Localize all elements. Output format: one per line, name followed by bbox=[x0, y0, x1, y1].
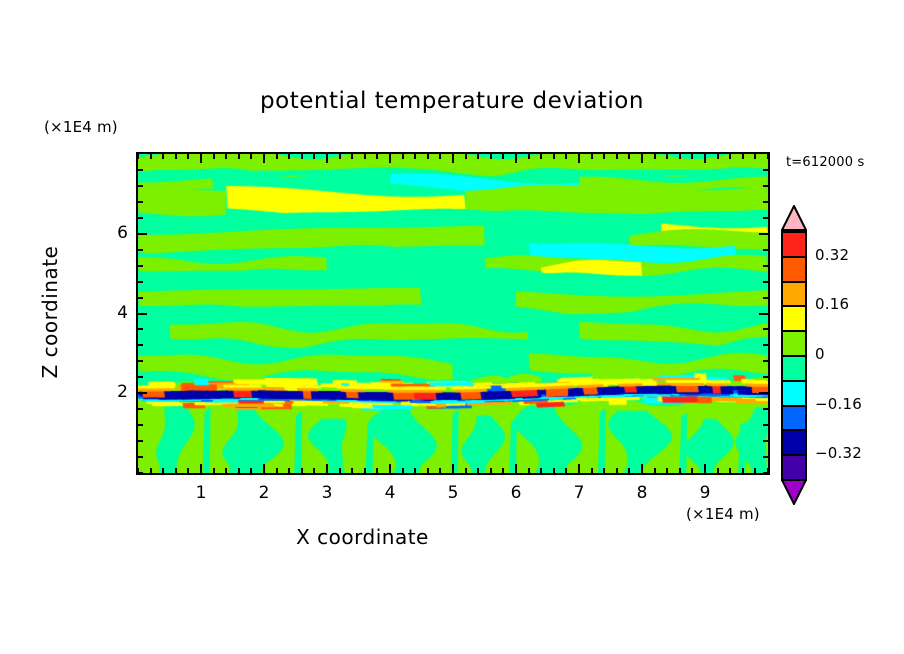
y-tick-right-minor bbox=[763, 201, 768, 203]
y-tick-minor bbox=[138, 424, 143, 426]
y-tick-minor bbox=[138, 185, 143, 187]
x-tick-top-minor bbox=[477, 154, 479, 159]
y-tick-right-minor bbox=[763, 344, 768, 346]
y-tick-right-minor bbox=[763, 360, 768, 362]
x-tick-top-major bbox=[452, 154, 454, 163]
x-tick-major bbox=[515, 464, 517, 473]
x-tick-major bbox=[200, 464, 202, 473]
x-tick-major bbox=[263, 464, 265, 473]
x-tick-top-minor bbox=[754, 154, 756, 159]
y-axis-unit-label: (×1E4 m) bbox=[44, 118, 118, 136]
x-tick-top-minor bbox=[276, 154, 278, 159]
x-tick-top-minor bbox=[175, 154, 177, 159]
y-tick-minor bbox=[138, 297, 143, 299]
x-tick-minor bbox=[591, 468, 593, 473]
x-tick-top-minor bbox=[591, 154, 593, 159]
colorbar-tick-label: −0.32 bbox=[815, 444, 862, 462]
x-axis-unit-label: (×1E4 m) bbox=[686, 505, 760, 523]
y-tick-right-minor bbox=[763, 408, 768, 410]
x-tick-minor bbox=[729, 468, 731, 473]
y-tick-right-minor bbox=[763, 440, 768, 442]
x-tick-label: 4 bbox=[370, 483, 410, 503]
x-tick-minor bbox=[465, 468, 467, 473]
x-tick-top-minor bbox=[654, 154, 656, 159]
colorbar-band bbox=[781, 256, 807, 283]
x-tick-minor bbox=[175, 468, 177, 473]
x-tick-top-minor bbox=[691, 154, 693, 159]
x-tick-top-minor bbox=[376, 154, 378, 159]
x-tick-minor bbox=[313, 468, 315, 473]
colorbar-band bbox=[781, 454, 807, 481]
x-tick-label: 7 bbox=[559, 483, 599, 503]
x-tick-minor bbox=[502, 468, 504, 473]
x-tick-top-minor bbox=[187, 154, 189, 159]
x-tick-top-major bbox=[263, 154, 265, 163]
contour-field bbox=[138, 154, 768, 473]
colorbar-tick-label: −0.16 bbox=[815, 395, 862, 413]
y-tick-minor bbox=[138, 328, 143, 330]
x-tick-top-minor bbox=[238, 154, 240, 159]
x-tick-top-minor bbox=[616, 154, 618, 159]
y-tick-right-minor bbox=[763, 456, 768, 458]
x-tick-top-minor bbox=[679, 154, 681, 159]
x-tick-top-minor bbox=[414, 154, 416, 159]
colorbar-tick-label: 0 bbox=[815, 345, 825, 363]
y-tick-right-minor bbox=[763, 265, 768, 267]
x-tick-top-minor bbox=[150, 154, 152, 159]
y-tick-minor bbox=[138, 360, 143, 362]
timestamp-label: t=612000 s bbox=[786, 155, 865, 170]
colorbar-band bbox=[781, 405, 807, 432]
colorbar-tick-label: 0.32 bbox=[815, 246, 849, 264]
x-tick-top-major bbox=[515, 154, 517, 163]
x-tick-minor bbox=[427, 468, 429, 473]
x-tick-minor bbox=[250, 468, 252, 473]
x-tick-major bbox=[704, 464, 706, 473]
y-tick-right-minor bbox=[763, 297, 768, 299]
x-tick-minor bbox=[351, 468, 353, 473]
x-tick-major bbox=[326, 464, 328, 473]
x-tick-major bbox=[578, 464, 580, 473]
x-tick-label: 1 bbox=[181, 483, 221, 503]
x-tick-top-minor bbox=[729, 154, 731, 159]
x-tick-minor bbox=[225, 468, 227, 473]
y-tick-minor bbox=[138, 344, 143, 346]
x-tick-top-minor bbox=[288, 154, 290, 159]
x-tick-minor bbox=[402, 468, 404, 473]
y-tick-major bbox=[138, 392, 147, 394]
x-tick-top-minor bbox=[603, 154, 605, 159]
x-tick-minor bbox=[477, 468, 479, 473]
x-tick-major bbox=[452, 464, 454, 473]
x-tick-top-minor bbox=[402, 154, 404, 159]
x-tick-top-minor bbox=[301, 154, 303, 159]
x-tick-major bbox=[641, 464, 643, 473]
x-tick-top-major bbox=[704, 154, 706, 163]
colorbar-band bbox=[781, 429, 807, 456]
y-tick-minor bbox=[138, 376, 143, 378]
x-tick-minor bbox=[376, 468, 378, 473]
x-tick-top-minor bbox=[351, 154, 353, 159]
x-tick-minor bbox=[288, 468, 290, 473]
y-tick-minor bbox=[138, 281, 143, 283]
y-tick-minor bbox=[138, 265, 143, 267]
x-tick-top-minor bbox=[540, 154, 542, 159]
y-tick-right-minor bbox=[763, 424, 768, 426]
y-tick-right-major bbox=[759, 313, 768, 315]
y-tick-minor bbox=[138, 249, 143, 251]
x-tick-top-major bbox=[641, 154, 643, 163]
x-tick-label: 5 bbox=[433, 483, 473, 503]
y-tick-minor bbox=[138, 201, 143, 203]
x-tick-minor bbox=[187, 468, 189, 473]
x-tick-top-minor bbox=[465, 154, 467, 159]
colorbar-band bbox=[781, 330, 807, 357]
colorbar[interactable]: 0.320.160−0.16−0.32 bbox=[781, 205, 807, 505]
x-tick-minor bbox=[414, 468, 416, 473]
x-tick-top-major bbox=[326, 154, 328, 163]
y-tick-right-minor bbox=[763, 169, 768, 171]
x-tick-top-minor bbox=[666, 154, 668, 159]
y-tick-label: 6 bbox=[88, 223, 128, 243]
x-tick-top-minor bbox=[490, 154, 492, 159]
y-tick-right-major bbox=[759, 392, 768, 394]
y-tick-label: 2 bbox=[88, 382, 128, 402]
y-tick-right-minor bbox=[763, 376, 768, 378]
colorbar-band bbox=[781, 355, 807, 382]
x-tick-label: 8 bbox=[622, 483, 662, 503]
colorbar-tick-label: 0.16 bbox=[815, 295, 849, 313]
x-tick-top-minor bbox=[628, 154, 630, 159]
x-tick-top-minor bbox=[767, 154, 769, 159]
y-tick-minor bbox=[138, 472, 143, 474]
x-tick-top-minor bbox=[427, 154, 429, 159]
y-tick-right-minor bbox=[763, 281, 768, 283]
x-tick-minor bbox=[238, 468, 240, 473]
y-axis-title: Z coordinate bbox=[38, 202, 62, 422]
x-tick-top-minor bbox=[313, 154, 315, 159]
x-tick-minor bbox=[616, 468, 618, 473]
y-tick-major bbox=[138, 313, 147, 315]
x-tick-top-minor bbox=[137, 154, 139, 159]
y-tick-right-minor bbox=[763, 328, 768, 330]
y-tick-minor bbox=[138, 217, 143, 219]
y-tick-minor bbox=[138, 440, 143, 442]
x-tick-minor bbox=[679, 468, 681, 473]
y-tick-right-minor bbox=[763, 472, 768, 474]
x-tick-minor bbox=[276, 468, 278, 473]
x-tick-minor bbox=[439, 468, 441, 473]
x-tick-top-minor bbox=[565, 154, 567, 159]
colorbar-band bbox=[781, 231, 807, 258]
y-tick-right-minor bbox=[763, 249, 768, 251]
y-tick-minor bbox=[138, 408, 143, 410]
x-tick-top-major bbox=[389, 154, 391, 163]
x-tick-minor bbox=[666, 468, 668, 473]
x-tick-top-minor bbox=[528, 154, 530, 159]
x-tick-label: 6 bbox=[496, 483, 536, 503]
y-tick-minor bbox=[138, 456, 143, 458]
x-tick-minor bbox=[364, 468, 366, 473]
y-tick-right-minor bbox=[763, 185, 768, 187]
x-tick-minor bbox=[301, 468, 303, 473]
x-tick-minor bbox=[339, 468, 341, 473]
x-tick-minor bbox=[540, 468, 542, 473]
x-tick-minor bbox=[691, 468, 693, 473]
colorbar-band bbox=[781, 305, 807, 332]
x-tick-top-minor bbox=[742, 154, 744, 159]
y-tick-label: 4 bbox=[88, 303, 128, 323]
x-tick-top-minor bbox=[717, 154, 719, 159]
x-tick-top-minor bbox=[502, 154, 504, 159]
x-tick-minor bbox=[654, 468, 656, 473]
page-title: potential temperature deviation bbox=[0, 88, 904, 114]
colorbar-under-range-arrow bbox=[781, 479, 807, 505]
contour-plot-area[interactable] bbox=[136, 152, 770, 475]
x-tick-label: 2 bbox=[244, 483, 284, 503]
x-tick-top-minor bbox=[225, 154, 227, 159]
x-tick-top-minor bbox=[213, 154, 215, 159]
x-tick-minor bbox=[565, 468, 567, 473]
y-tick-right-major bbox=[759, 233, 768, 235]
y-tick-right-minor bbox=[763, 217, 768, 219]
x-tick-top-minor bbox=[553, 154, 555, 159]
x-tick-minor bbox=[754, 468, 756, 473]
x-tick-top-minor bbox=[250, 154, 252, 159]
colorbar-over-range-arrow bbox=[781, 205, 807, 231]
x-tick-minor bbox=[717, 468, 719, 473]
x-tick-minor bbox=[490, 468, 492, 473]
x-tick-major bbox=[389, 464, 391, 473]
y-tick-major bbox=[138, 233, 147, 235]
x-tick-minor bbox=[162, 468, 164, 473]
x-tick-minor bbox=[603, 468, 605, 473]
x-tick-top-major bbox=[578, 154, 580, 163]
x-tick-minor bbox=[213, 468, 215, 473]
colorbar-band bbox=[781, 281, 807, 308]
x-tick-top-major bbox=[200, 154, 202, 163]
x-tick-minor bbox=[528, 468, 530, 473]
x-tick-top-minor bbox=[162, 154, 164, 159]
x-tick-minor bbox=[150, 468, 152, 473]
x-tick-top-minor bbox=[439, 154, 441, 159]
x-tick-label: 9 bbox=[685, 483, 725, 503]
x-tick-minor bbox=[628, 468, 630, 473]
colorbar-band bbox=[781, 380, 807, 407]
x-tick-minor bbox=[553, 468, 555, 473]
x-tick-top-minor bbox=[364, 154, 366, 159]
x-tick-top-minor bbox=[339, 154, 341, 159]
x-tick-label: 3 bbox=[307, 483, 347, 503]
x-tick-minor bbox=[742, 468, 744, 473]
y-tick-minor bbox=[138, 169, 143, 171]
x-axis-title: X coordinate bbox=[0, 525, 725, 549]
